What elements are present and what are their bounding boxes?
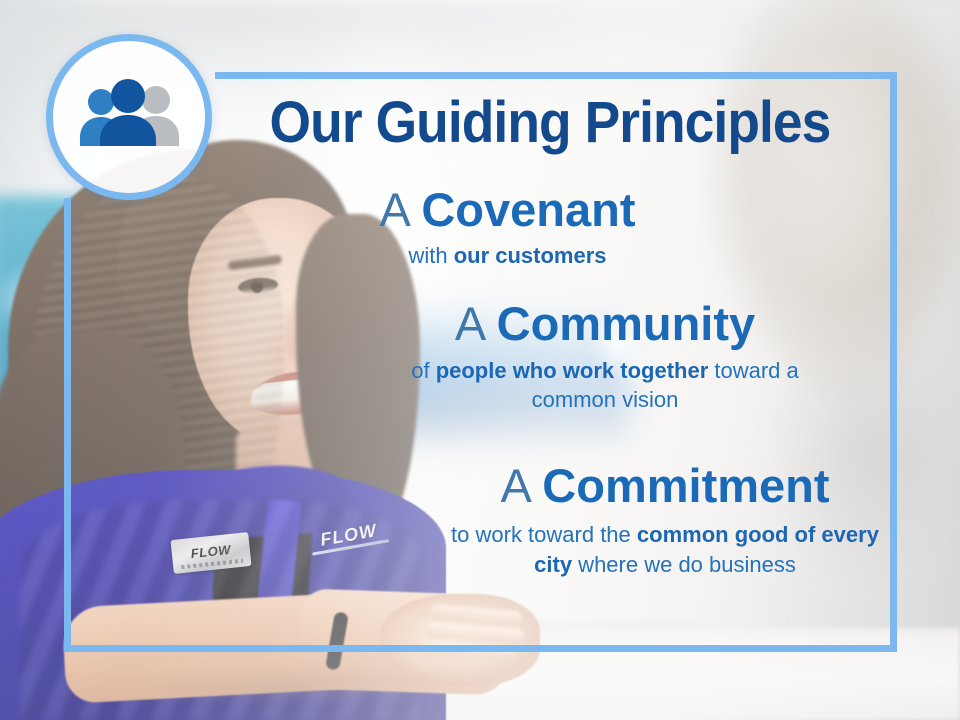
people-badge-circle bbox=[46, 34, 212, 200]
principle-covenant-keyword: Covenant bbox=[421, 183, 635, 236]
name-badge-subtext bbox=[181, 559, 243, 569]
principle-covenant: A Covenant with our customers bbox=[340, 186, 675, 270]
principle-covenant-article: A bbox=[380, 183, 422, 236]
principle-community-body: of people who work together toward a com… bbox=[395, 357, 815, 414]
arm-desk-shadow bbox=[60, 676, 530, 702]
name-badge-brand-text: FLOW bbox=[190, 543, 231, 560]
principle-covenant-body: with our customers bbox=[340, 241, 675, 270]
page-title: Our Guiding Principles bbox=[246, 94, 853, 152]
principle-commitment-keyword: Commitment bbox=[542, 459, 829, 512]
people-group-icon bbox=[75, 77, 183, 157]
principle-commitment: A Commitment to work toward the common g… bbox=[450, 462, 880, 580]
principle-community: A Community of people who work together … bbox=[395, 300, 815, 414]
principle-covenant-heading: A Covenant bbox=[340, 186, 675, 234]
principle-community-heading: A Community bbox=[395, 300, 815, 348]
principle-commitment-body: to work toward the common good of every … bbox=[450, 520, 880, 580]
principle-community-keyword: Community bbox=[497, 297, 756, 350]
guiding-principles-graphic: FLOW FLOW bbox=[0, 0, 960, 720]
principle-community-article: A bbox=[455, 297, 497, 350]
principle-commitment-heading: A Commitment bbox=[450, 462, 880, 510]
principle-commitment-article: A bbox=[500, 459, 542, 512]
